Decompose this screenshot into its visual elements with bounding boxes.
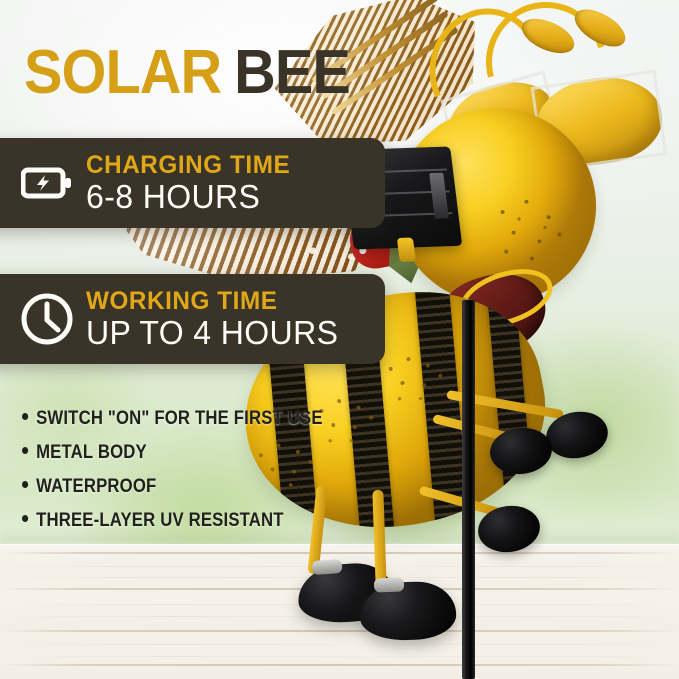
clock-icon: [16, 291, 78, 347]
charging-time-label: CHARGING TIME: [86, 152, 290, 179]
bee-shoe-cuff-left: [312, 559, 343, 575]
bullet-dot-icon: [22, 481, 28, 488]
feature-text: METAL BODY: [36, 442, 147, 464]
bullet-dot-icon: [22, 515, 28, 522]
bee-shoe-cuff-right: [374, 577, 404, 592]
working-time-value: UP TO 4 HOURS: [86, 315, 338, 351]
list-item: SWITCH "ON" FOR THE FIRST USE: [22, 408, 304, 430]
feature-list: SWITCH "ON" FOR THE FIRST USE METAL BODY…: [22, 408, 342, 544]
list-item: WATERPROOF: [22, 476, 304, 498]
solar-panel-mount: [397, 237, 416, 261]
bee-head-texture: [486, 188, 578, 274]
working-time-text-group: WORKING TIME UP TO 4 HOURS: [86, 288, 346, 351]
list-item: METAL BODY: [22, 442, 304, 464]
feature-text: SWITCH "ON" FOR THE FIRST USE: [36, 408, 323, 430]
charging-time-value: 6-8 HOURS: [86, 179, 290, 215]
charging-time-text-group: CHARGING TIME 6-8 HOURS: [86, 152, 297, 215]
garden-stake-pole: [462, 300, 475, 679]
battery-charging-icon: [16, 166, 78, 200]
product-marketing-image: SOLARBEE CHARGING TIME 6-8 HOURS WORKING…: [0, 0, 679, 679]
charging-time-banner: CHARGING TIME 6-8 HOURS: [0, 138, 385, 228]
working-time-label: WORKING TIME: [86, 288, 338, 315]
solar-panel-clip: [429, 173, 449, 219]
working-time-banner: WORKING TIME UP TO 4 HOURS: [0, 274, 385, 364]
title-word-bee: BEE: [234, 38, 350, 107]
page-title: SOLARBEE: [24, 42, 350, 104]
list-item: THREE-LAYER UV RESISTANT: [22, 510, 304, 532]
title-word-solar: SOLAR: [24, 38, 221, 107]
feature-text: WATERPROOF: [36, 476, 156, 498]
bullet-dot-icon: [22, 413, 28, 420]
feature-text: THREE-LAYER UV RESISTANT: [36, 510, 284, 532]
bullet-dot-icon: [22, 447, 28, 454]
